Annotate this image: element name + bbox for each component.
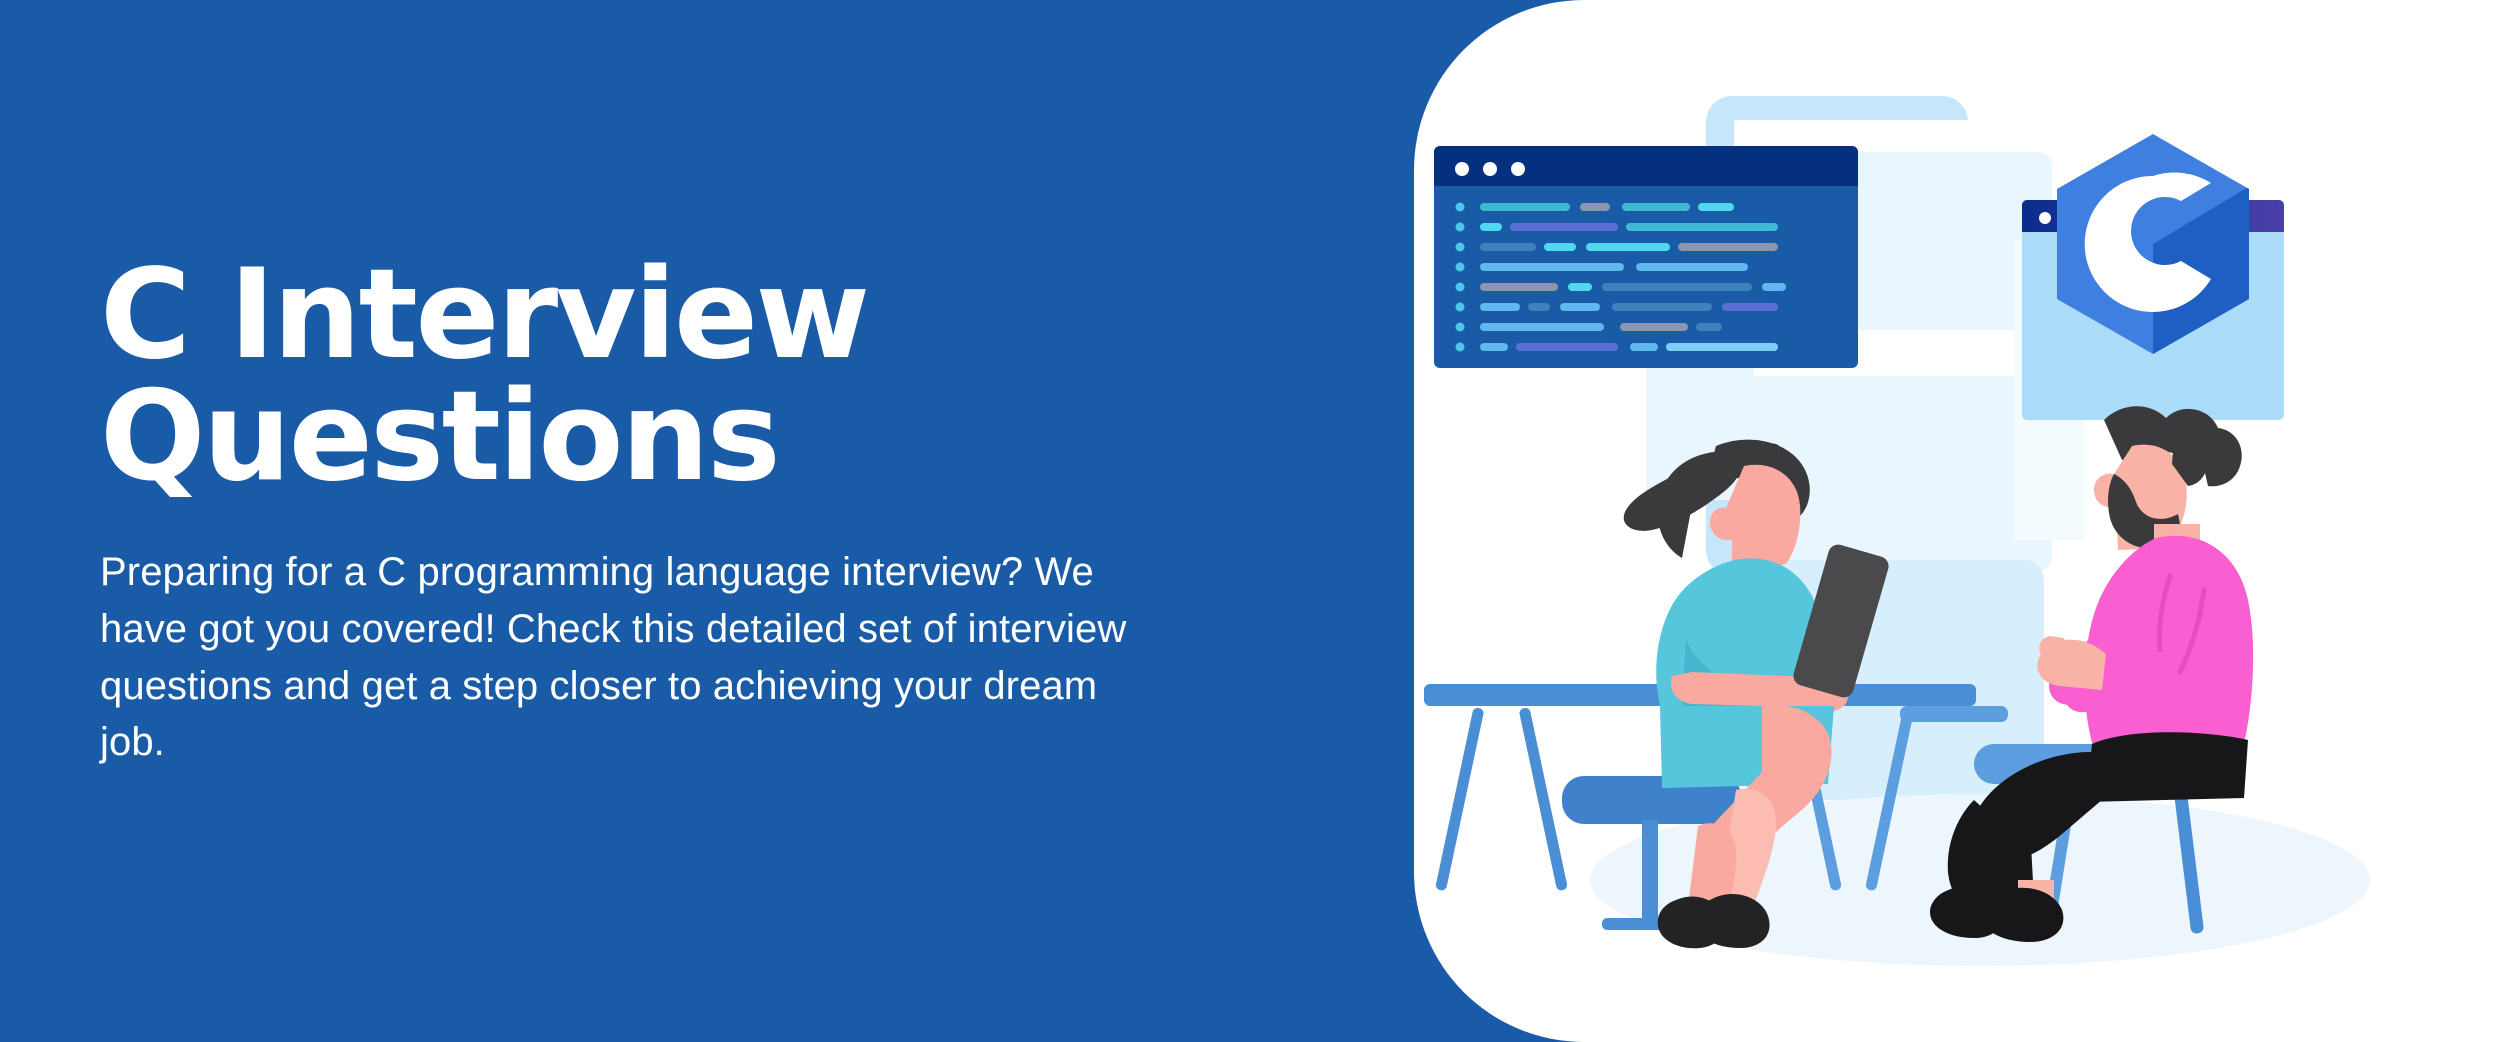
illustration-panel: [1414, 0, 2500, 1042]
code-bar: [1544, 243, 1576, 251]
code-line-bullet: [1456, 263, 1465, 272]
code-line-bullet: [1456, 223, 1465, 232]
stool-post: [1642, 820, 1658, 928]
logo-window-dot-close: [2039, 212, 2051, 224]
code-window-titlebar: [1434, 146, 1858, 186]
code-bar: [1568, 283, 1592, 291]
code-bar: [1620, 323, 1688, 331]
code-bar: [1510, 223, 1618, 231]
code-bar: [1480, 323, 1604, 331]
code-window-dot-maximize: [1511, 162, 1525, 176]
code-bar: [1622, 203, 1690, 211]
code-line-bullet: [1456, 243, 1465, 252]
code-line-bullet: [1456, 203, 1465, 212]
page-subtitle: Preparing for a C programming language i…: [100, 544, 1160, 771]
code-bar: [1612, 303, 1712, 311]
hero-banner: C Interview Questions Preparing for a C …: [0, 0, 2500, 1042]
code-window-dot-minimize: [1483, 162, 1497, 176]
code-bar: [1480, 343, 1508, 351]
c-language-logo-window: [2022, 122, 2357, 420]
code-bar: [1698, 203, 1734, 211]
desk-leg-cross-b: [1519, 707, 1568, 891]
code-editor-window: [1434, 146, 1858, 368]
code-bar: [1560, 303, 1600, 311]
code-line-bullet: [1456, 283, 1465, 292]
code-bar: [1528, 303, 1550, 311]
code-bar: [1762, 283, 1786, 291]
code-line-bullet: [1456, 303, 1465, 312]
chair-backrest: [1900, 706, 2008, 722]
code-bar: [1678, 243, 1778, 251]
text-column: C Interview Questions Preparing for a C …: [100, 255, 1220, 771]
page-title: C Interview Questions: [100, 255, 1220, 498]
code-bar: [1626, 223, 1778, 231]
desk-leg-cross-a: [1435, 707, 1484, 891]
code-bar: [1666, 343, 1778, 351]
code-line-bullet: [1456, 343, 1465, 352]
code-bar: [1630, 343, 1658, 351]
illustration-two-people-at-desk-coding: [1414, 0, 2500, 1042]
code-bar: [1480, 223, 1502, 231]
code-bar: [1480, 283, 1558, 291]
code-bar: [1696, 323, 1722, 331]
code-bar: [1480, 203, 1570, 211]
code-bar: [1580, 203, 1610, 211]
code-bar: [1586, 243, 1670, 251]
code-window-dot-close: [1455, 162, 1469, 176]
code-bar: [1722, 303, 1778, 311]
code-bar: [1516, 343, 1618, 351]
code-bar: [1480, 303, 1520, 311]
code-bar: [1636, 263, 1748, 271]
code-bar: [1602, 283, 1752, 291]
code-line-bullet: [1456, 323, 1465, 332]
code-bar: [1480, 263, 1624, 271]
code-bar: [1480, 243, 1536, 251]
